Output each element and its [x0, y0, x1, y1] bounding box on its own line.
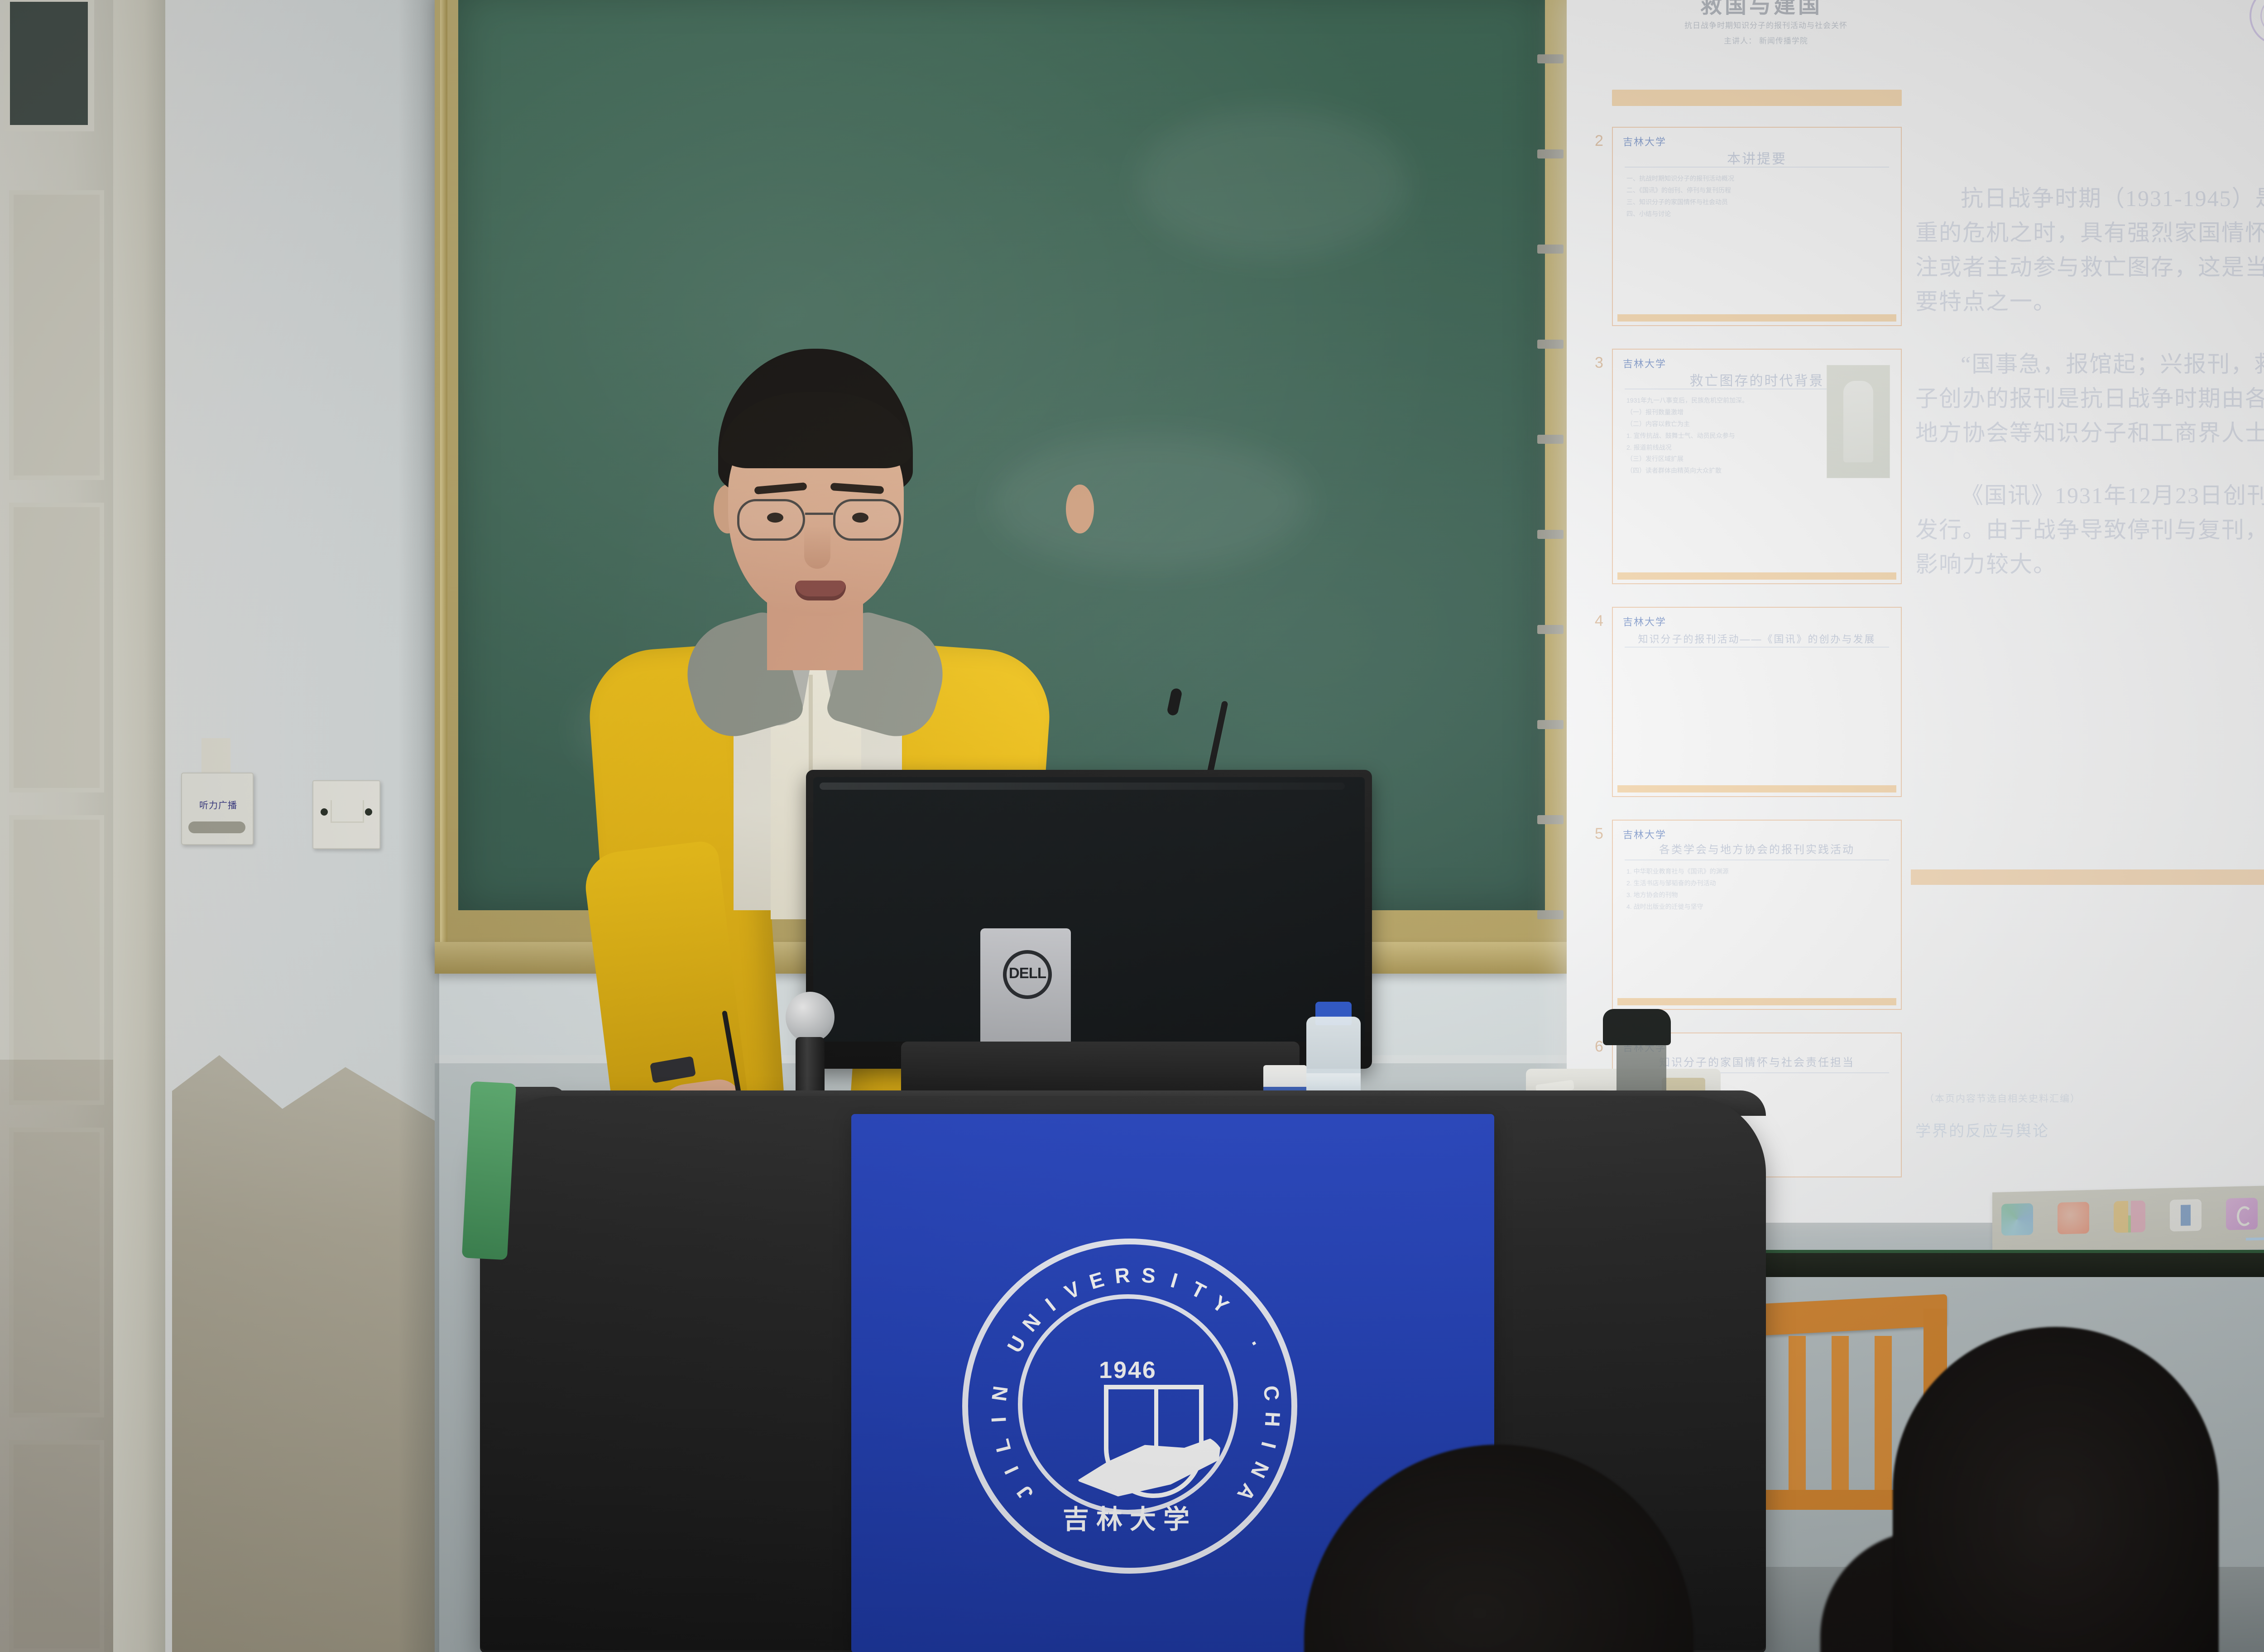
door-panel	[9, 503, 104, 792]
list-item[interactable]: 2 吉林大学 本讲提要 一、抗战时期知识分子的报刊活动概况 二、《国讯》的创刊、…	[1612, 127, 1902, 326]
slide-paragraph: 《国讯》1931年12月23日创刊于上海，后迁重庆发行。由于战争导致停刊与复刊，…	[1915, 478, 2264, 581]
seal-arc-char: N	[1017, 1309, 1046, 1336]
ear-right	[1066, 485, 1094, 533]
list-item[interactable]: 3 吉林大学 救亡图存的时代背景 1931年九一八事变后，民族危机空前加深。 （…	[1612, 349, 1902, 584]
wall-peeling-paint	[172, 1055, 435, 1652]
socket-slot	[331, 800, 364, 823]
slide-rule	[1625, 647, 1889, 648]
slide-footer-note: 学界的反应与舆论	[1915, 1119, 2049, 1141]
board-rail-clip	[1537, 530, 1564, 539]
seal-arc-char: E	[1086, 1267, 1107, 1294]
socket-hole-right	[365, 808, 372, 816]
seal-arc-char: U	[1002, 1331, 1031, 1357]
monitor-display	[813, 777, 1365, 1042]
taskbar-icon-row	[2001, 1196, 2264, 1236]
board-rail-clip	[1537, 340, 1564, 349]
door-window-pane	[4, 0, 94, 131]
jilin-university-brand: 吉林大学 JILIN UNIVERSITY	[2239, 0, 2264, 70]
slide-photo	[1827, 365, 1890, 478]
slide-thumbnail-pane[interactable]: 救国与建国 抗日战争时期知识分子的报刊活动与社会关怀 主讲人： 新闻传播学院 2…	[1585, 0, 1902, 1177]
slide-footer-bar	[1617, 998, 1896, 1005]
dell-logo-text: DELL	[1003, 965, 1052, 982]
edge-icon[interactable]	[2001, 1203, 2033, 1236]
microphone-grille	[786, 992, 835, 1042]
slide-logo: 吉林大学	[1623, 827, 1666, 841]
slide-rule	[1625, 860, 1889, 860]
chalk-smudge	[1137, 109, 1409, 258]
dell-monitor[interactable]	[806, 770, 1372, 1069]
photos-icon[interactable]	[2226, 1198, 2258, 1230]
board-rail-clip	[1537, 54, 1564, 63]
slide-paragraph: 抗日战争时期（1931-1945）是中华民族面临最深重的危机之时，具有强烈家国情…	[1915, 181, 2264, 319]
list-item[interactable]: 5 吉林大学 各类学会与地方协会的报刊实践活动 1. 中华职业教育社与《国讯》的…	[1612, 820, 1902, 1010]
lens-left	[737, 499, 805, 541]
windows-start-icon[interactable]	[2114, 1201, 2145, 1233]
slide-number: 4	[1595, 612, 1603, 630]
nose	[804, 526, 830, 569]
seal-arc-char: I	[1168, 1268, 1180, 1293]
glasses-bridge	[805, 513, 833, 515]
firefox-icon[interactable]	[2058, 1202, 2089, 1234]
audio-broadcast-label: 听力广播	[187, 798, 250, 811]
slide-logo: 吉林大学	[1623, 356, 1666, 370]
seal-arc-char: S	[1141, 1263, 1157, 1288]
slide-body: 1. 中华职业教育社与《国讯》的渊源 2. 生活书店与邹韬奋的办刊活动 3. 地…	[1626, 866, 1889, 913]
slide-paragraph: “国事急，报馆起；兴报刊，救中国”。由知识分子创办的报刊是抗日战争时期由各类学会…	[1915, 347, 2264, 450]
slide-small-note: （本页内容节选自相关史料汇编）	[1924, 1091, 2081, 1105]
chair-slat	[1875, 1336, 1892, 1490]
seal-arc-char: C	[1258, 1384, 1285, 1402]
monitor-base	[901, 1042, 1300, 1096]
board-rail-clip	[1537, 435, 1564, 444]
jilin-university-seal-icon	[2250, 0, 2264, 45]
slide-number: 6	[1595, 1038, 1603, 1056]
slide-title: 各类学会与地方协会的报刊实践活动	[1613, 840, 1901, 856]
wall-shadow	[398, 0, 439, 1652]
door-frame	[113, 0, 165, 1652]
active-app-indicator	[2246, 1237, 2264, 1240]
slide-footer-bar	[1617, 572, 1896, 580]
spray-bottle-trigger	[1603, 1009, 1671, 1045]
seal-arc-char: I	[1256, 1439, 1281, 1451]
deck-subtitle: 抗日战争时期知识分子的报刊活动与社会关怀	[1639, 19, 1893, 30]
slide-number: 3	[1595, 354, 1603, 372]
slide-divider-bar	[1612, 90, 1902, 106]
power-socket[interactable]	[312, 780, 380, 849]
board-rail-clip	[1537, 245, 1564, 254]
slide-rule	[1625, 167, 1889, 168]
lens-right	[833, 499, 901, 541]
seal-arc-char: N	[987, 1384, 1013, 1402]
green-board-eraser[interactable]	[462, 1081, 516, 1260]
seal-arc-char: T	[1187, 1276, 1210, 1304]
slide-body: 1931年九一八事变后，民族危机空前加深。 （一）报刊数量激增 （二）内容以救亡…	[1626, 395, 1819, 477]
audience-head-right	[1893, 1327, 2219, 1652]
photo-scene: 听力广播 救国与建国 抗日战争时期知识分子的报刊活动与社会关怀 主讲人： 新闻传…	[0, 0, 2264, 1652]
monitor-reflection	[820, 783, 1345, 790]
seal-chinese-name: 吉林大学	[968, 1498, 1291, 1536]
board-rail-clip	[1537, 720, 1564, 729]
seal-arc-char: I	[1041, 1293, 1060, 1316]
chair-slat	[1832, 1336, 1849, 1490]
board-rail-clip	[1537, 625, 1564, 634]
slide-number: 2	[1595, 132, 1603, 150]
chair-slat	[1789, 1336, 1806, 1490]
seal-arc-char: V	[1060, 1276, 1084, 1305]
deck-subtitle-secondary: 主讲人： 新闻传播学院	[1639, 34, 1893, 46]
socket-hole-left	[321, 808, 328, 816]
board-rail-clip	[1537, 149, 1564, 158]
speaker-conduit	[201, 738, 230, 776]
slide-logo: 吉林大学	[1623, 134, 1666, 149]
speaker-slot	[188, 821, 245, 833]
seal-arc-char: I	[999, 1462, 1024, 1478]
door-panel	[9, 190, 104, 480]
board-rail-clip	[1537, 815, 1564, 824]
list-item[interactable]: 4 吉林大学 知识分子的报刊活动——《国讯》的创办与发展	[1612, 607, 1902, 797]
seal-arc-char: H	[1260, 1411, 1285, 1428]
slide-accent-bar	[1911, 869, 2264, 885]
deck-title: 救国与建国	[1666, 0, 1856, 19]
seal-arc-char: ·	[1242, 1335, 1267, 1353]
slide-footer-bar	[1617, 785, 1896, 792]
audio-broadcast-panel[interactable]: 听力广播	[181, 773, 254, 845]
slide-text-body: 抗日战争时期（1931-1945）是中华民族面临最深重的危机之时，具有强烈家国情…	[1915, 181, 2264, 610]
board-rail-clip	[1537, 910, 1564, 919]
slide-title: 知识分子的报刊活动——《国讯》的创办与发展	[1613, 631, 1901, 646]
seal-arc-char: I	[986, 1416, 1011, 1423]
mouth	[795, 581, 846, 600]
seal-inner-ring: 1946	[1018, 1294, 1238, 1514]
chair-top-rail	[1734, 1294, 1947, 1337]
document-icon[interactable]	[2170, 1199, 2202, 1232]
seal-year: 1946	[1022, 1357, 1233, 1384]
seal-arc-char: L	[989, 1436, 1016, 1455]
jilin-university-seal: JILIN UNIVERSITY · CHINA 1946 吉林大学	[962, 1239, 1297, 1574]
slide-logo: 吉林大学	[1623, 614, 1666, 629]
slide-title: 本讲提要	[1613, 148, 1901, 168]
slide-body: 一、抗战时期知识分子的报刊活动概况 二、《国讯》的创刊、停刊与复刊历程 三、知识…	[1626, 173, 1889, 220]
projection-screen[interactable]: 救国与建国 抗日战争时期知识分子的报刊活动与社会关怀 主讲人： 新闻传播学院 2…	[1567, 0, 2264, 1223]
seal-arc-char: N	[1246, 1458, 1274, 1482]
seal-arc-char: Y	[1208, 1290, 1234, 1318]
slide-number: 5	[1595, 825, 1603, 843]
slide-footer-bar	[1617, 314, 1896, 322]
windows-taskbar[interactable]	[1992, 1181, 2264, 1256]
seal-arc-char: R	[1113, 1263, 1131, 1288]
